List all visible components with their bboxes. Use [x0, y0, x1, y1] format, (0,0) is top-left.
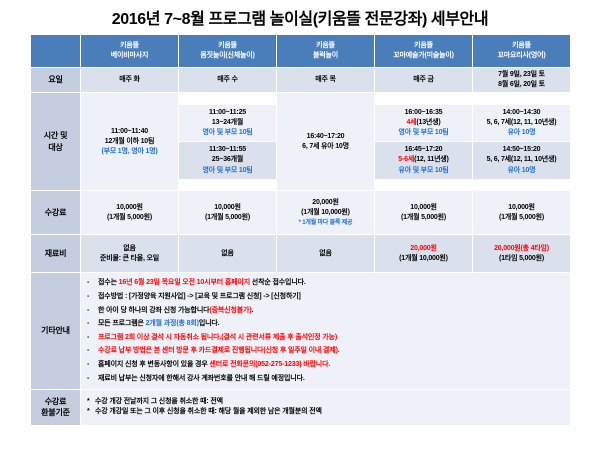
schedule-cell-4-part-2-time: 16:45~17:20 [376, 145, 471, 155]
header-program-2-line2: 몸짓놀이(신체놀이) [180, 51, 275, 61]
weekday-value-3-line1: 매주 목 [278, 75, 373, 85]
tuition-cell-4-amount: 10,000원 [376, 203, 471, 213]
tuition-cell-2-amount: 10,000원 [180, 203, 275, 213]
schedule-cell-5-part-1-note: 유아 10명 [474, 128, 569, 138]
notes-item-bullet: - [87, 333, 89, 343]
row-schedule: 시간 및 대상 11:00~11:40 12개월 이하 10팀 (부모 1명, … [31, 93, 571, 191]
schedule-cell-5-part-2-time: 14:50~15:20 [474, 145, 569, 155]
row-label-schedule-line2: 대상 [32, 142, 79, 154]
material-cell-2: 없음 [179, 235, 277, 273]
weekday-value-5: 7월 9일, 23일 토 8월 6일, 20일 토 [473, 68, 571, 93]
schedule-cell-4-part-1-note: 영아 및 부모 10팀 [376, 128, 471, 138]
material-cell-1-sub: 준비물: 큰 타올, 오일 [82, 254, 177, 264]
notes-item: -한 아이 당 하나의 강좌 신청 가능합니다(중복신청불가). [87, 306, 566, 316]
notes-item-bullet: - [87, 360, 89, 370]
notes-item-bullet: - [87, 278, 89, 288]
material-cell-4: 20,000원 (1개월 10,000원) [375, 235, 473, 273]
header-program-1-line2: 베이비마사지 [82, 51, 177, 61]
tuition-cell-1: 10,000원 (1개월 5,000원) [81, 191, 179, 235]
tuition-cell-2: 10,000원 (1개월 5,000원) [179, 191, 277, 235]
row-label-refund-line1: 수강료 [32, 396, 79, 408]
header-program-5: 키움뜰 꼬마요리사(영어) [473, 35, 571, 68]
header-program-4-line2: 꼬마예술가(미술놀이) [376, 51, 471, 61]
schedule-cell-4-part-1-age-red: 4세 [406, 119, 416, 126]
row-refund-policy: 수강료 환불기준 *수강 개강 전날까지 그 신청을 취소한 때: 전액*수강 … [31, 389, 571, 425]
refund-item-bullet: * [87, 397, 90, 407]
refund-list: *수강 개강 전날까지 그 신청을 취소한 때: 전액*수강 개강일 또는 그 … [87, 397, 566, 417]
material-cell-1: 없음 준비물: 큰 타올, 오일 [81, 235, 179, 273]
material-cell-4-amount: 20,000원 [376, 244, 471, 254]
notes-item: -프로그램 2회 이상 결석 시 자동취소 됩니다.(결석 시 관련서류 제출 … [87, 333, 566, 343]
weekday-value-3: 매주 목 [277, 68, 375, 93]
schedule-cell-5-part-1: 14:00~14:30 5, 6, 7세(12, 11, 10년생) 유아 10… [473, 105, 570, 142]
notes-item-segment: 입니다. [199, 320, 220, 327]
schedule-cell-4-part-2-age-rest: (12, 11년생) [414, 156, 449, 163]
row-tuition: 수강료 10,000원 (1개월 5,000원) 10,000원 (1개월 5,… [31, 191, 571, 235]
tuition-cell-5-amount: 10,000원 [474, 203, 569, 213]
notes-item-segment: 선착순 접수입니다. [250, 279, 306, 286]
tuition-cell-2-monthly: (1개월 5,000원) [180, 213, 275, 223]
notes-item: -수강료 납부 방법은 본 센터 방문 후 카드결제로 진행됩니다(신청 후 일… [87, 346, 566, 356]
notes-item-segment: 16년 6월 23일 목요일 오전 10시부터 홈페이지 [119, 279, 250, 286]
notes-item-segment: 수강료 납부 방법은 본 센터 방문 후 카드결제로 진행됩니다(신청 후 일주… [98, 347, 340, 354]
schedule-cell-4-part-1-time: 16:00~16:35 [376, 108, 471, 118]
notes-item-segment: 프로그램 2회 이상 결석 시 자동취소 됩니다.(결석 시 관련서류 제출 후… [98, 334, 337, 341]
notes-item-segment: 모든 프로그램은 [98, 320, 146, 327]
refund-item-text: 수강 개강일 또는 그 이후 신청을 취소한 때: 해당 월을 제외한 남은 개… [95, 408, 322, 415]
schedule-cell-2-part-1-age: 13~24개월 [180, 118, 275, 128]
row-label-refund: 수강료 환불기준 [31, 389, 81, 425]
row-label-notes: 기타안내 [31, 273, 81, 390]
header-program-1-line1: 키움뜰 [82, 41, 177, 51]
notes-item-segment: (총 8회) [176, 320, 198, 327]
notes-item-segment: 한 아이 당 하나의 강좌 신청 가능합니다 [98, 307, 209, 314]
header-program-2: 키움뜰 몸짓놀이(신체놀이) [179, 35, 277, 68]
weekday-value-2-line1: 매주 수 [180, 75, 275, 85]
notes-item: -접수방법 : [가정양육 지원사업] -> [교육 및 프로그램 신청] ->… [87, 292, 566, 302]
header-program-3: 키움뜰 블럭놀이 [277, 35, 375, 68]
refund-content: *수강 개강 전날까지 그 신청을 취소한 때: 전액*수강 개강일 또는 그 … [81, 389, 571, 425]
row-material-fee: 재료비 없음 준비물: 큰 타올, 오일 없음 없음 20,000원 (1개월 … [31, 235, 571, 273]
schedule-cell-4: 16:00~16:35 4세(13년생) 영아 및 부모 10팀 16:45~1… [375, 93, 473, 191]
header-program-3-line1: 키움뜰 [278, 41, 373, 51]
header-program-5-line1: 키움뜰 [474, 41, 569, 51]
tuition-cell-1-amount: 10,000원 [82, 203, 177, 213]
notes-item-segment: 접수방법 : [가정양육 지원사업] -> [교육 및 프로그램 신청] -> … [98, 293, 301, 300]
header-program-5-line2: 꼬마요리사(영어) [474, 51, 569, 61]
schedule-cell-2-part-2: 11:30~11:55 25~36개월 영아 및 부모 10팀 [179, 142, 276, 178]
program-guide-page: 2016년 7~8월 프로그램 놀이실(키움뜰 전문강좌) 세부안내 키움뜰 베… [0, 0, 600, 453]
tuition-cell-5-monthly: (1개월 5,000원) [474, 213, 569, 223]
table-container: 키움뜰 베이비마사지 키움뜰 몸짓놀이(신체놀이) 키움뜰 블럭놀이 키움뜰 꼬… [0, 34, 600, 426]
schedule-cell-3: 16:40~17:20 6, 7세 유아 10명 [277, 93, 375, 191]
refund-item-bullet: * [87, 407, 90, 417]
weekday-value-1-line1: 매주 화 [82, 75, 177, 85]
notes-item-bullet: - [87, 319, 89, 329]
schedule-cell-2-part-2-time: 11:30~11:55 [180, 145, 275, 155]
weekday-value-2: 매주 수 [179, 68, 277, 93]
notes-content: -접수는 16년 6월 23일 목요일 오전 10시부터 홈페이지 선착순 접수… [81, 273, 571, 390]
notes-item: -모든 프로그램은 2개월 과정(총 8회)입니다. [87, 319, 566, 329]
header-program-4-line1: 키움뜰 [376, 41, 471, 51]
material-cell-5-amount: 20,000원(총 4타임) [474, 244, 569, 254]
notes-item-segment: (중복신청불가) [209, 307, 251, 314]
schedule-cell-5-part-2-age: 5, 6, 7세(12, 11, 10년생) [474, 155, 569, 165]
schedule-cell-4-part-2-note: 유아 및 부모 10팀 [376, 166, 471, 176]
header-program-2-line1: 키움뜰 [180, 41, 275, 51]
notes-list: -접수는 16년 6월 23일 목요일 오전 10시부터 홈페이지 선착순 접수… [87, 278, 566, 384]
notes-item: -재료비 납부는 신청자에 한해서 강사 계좌번호를 안내 해 드릴 예정입니다… [87, 374, 566, 384]
schedule-cell-1-age: 12개월 이하 10팀 [82, 137, 177, 147]
tuition-cell-4: 10,000원 (1개월 5,000원) [375, 191, 473, 235]
weekday-value-4: 매주 금 [375, 68, 473, 93]
row-label-refund-line2: 환불기준 [32, 407, 79, 419]
notes-item-segment: 센터로 전화문의(052-275-1233) 바랍니다. [209, 361, 330, 368]
tuition-cell-3-extra: * 1개월 마다 블록 제공 [278, 219, 373, 228]
weekday-value-5-line2: 8월 6일, 20일 토 [474, 80, 569, 90]
schedule-cell-5: 14:00~14:30 5, 6, 7세(12, 11, 10년생) 유아 10… [473, 93, 571, 191]
refund-item-text: 수강 개강 전날까지 그 신청을 취소한 때: 전액 [95, 398, 223, 405]
tuition-cell-1-monthly: (1개월 5,000원) [82, 213, 177, 223]
schedule-cell-2-part-2-age: 25~36개월 [180, 155, 275, 165]
program-detail-table: 키움뜰 베이비마사지 키움뜰 몸짓놀이(신체놀이) 키움뜰 블럭놀이 키움뜰 꼬… [30, 34, 571, 426]
row-label-weekday: 요일 [31, 68, 81, 93]
material-cell-5: 20,000원(총 4타임) (1타임 5,000원) [473, 235, 571, 273]
material-cell-5-sub: (1타임 5,000원) [474, 254, 569, 264]
material-cell-4-sub: (1개월 10,000원) [376, 254, 471, 264]
weekday-value-5-line1: 7월 9일, 23일 토 [474, 70, 569, 80]
material-cell-3: 없음 [277, 235, 375, 273]
notes-item-bullet: - [87, 306, 89, 316]
notes-item-bullet: - [87, 374, 89, 384]
tuition-cell-3: 20,000원 (1개월 10,000원) * 1개월 마다 블록 제공 [277, 191, 375, 235]
row-weekday: 요일 매주 화 매주 수 매주 목 매주 금 7월 9일, 23일 토 [31, 68, 571, 93]
notes-item-bullet: - [87, 346, 89, 356]
notes-item-segment: 재료비 납부는 신청자에 한해서 강사 계좌번호를 안내 해 드릴 예정입니다. [98, 375, 305, 382]
schedule-cell-3-time: 16:40~17:20 [278, 132, 373, 142]
schedule-cell-4-part-2-age: 5-6세(12, 11년생) [376, 155, 471, 165]
schedule-cell-1: 11:00~11:40 12개월 이하 10팀 (부모 1명, 영아 1명) [81, 93, 179, 191]
schedule-cell-4-part-1-age: 4세(13년생) [376, 118, 471, 128]
header-program-1: 키움뜰 베이비마사지 [81, 35, 179, 68]
schedule-cell-1-note: (부모 1명, 영아 1명) [82, 147, 177, 157]
material-cell-3-amount: 없음 [278, 249, 373, 259]
schedule-cell-1-time: 11:00~11:40 [82, 127, 177, 137]
tuition-cell-3-amount: 20,000원 [278, 198, 373, 208]
schedule-cell-5-part-1-age: 5, 6, 7세(12, 11, 10년생) [474, 118, 569, 128]
weekday-value-1: 매주 화 [81, 68, 179, 93]
row-label-schedule: 시간 및 대상 [31, 93, 81, 191]
schedule-cell-4-part-2: 16:45~17:20 5-6세(12, 11년생) 유아 및 부모 10팀 [375, 142, 472, 178]
tuition-cell-3-monthly: (1개월 10,000원) [278, 208, 373, 218]
schedule-cell-4-part-1-age-rest: (13년생) [416, 119, 440, 126]
tuition-cell-4-monthly: (1개월 5,000원) [376, 213, 471, 223]
page-title: 2016년 7~8월 프로그램 놀이실(키움뜰 전문강좌) 세부안내 [0, 0, 600, 34]
row-label-material-fee: 재료비 [31, 235, 81, 273]
schedule-cell-2-part-2-note: 영아 및 부모 10팀 [180, 166, 275, 176]
weekday-value-4-line1: 매주 금 [376, 75, 471, 85]
header-program-4: 키움뜰 꼬마예술가(미술놀이) [375, 35, 473, 68]
row-label-schedule-line1: 시간 및 [32, 130, 79, 142]
notes-item-segment: 2개월 과정 [146, 320, 177, 327]
schedule-cell-5-part-2-note: 유아 10명 [474, 166, 569, 176]
header-program-3-line2: 블럭놀이 [278, 51, 373, 61]
notes-item-bullet: - [87, 292, 89, 302]
tuition-cell-5: 10,000원 (1개월 5,000원) [473, 191, 571, 235]
schedule-cell-4-part-2-age-red: 5-6세 [398, 156, 414, 163]
schedule-cell-3-age: 6, 7세 유아 10명 [278, 142, 373, 152]
schedule-cell-2-part-1-note: 영아 및 부모 10팀 [180, 128, 275, 138]
notes-item: -접수는 16년 6월 23일 목요일 오전 10시부터 홈페이지 선착순 접수… [87, 278, 566, 288]
notes-item-segment: 홈페이지 신청 후 변동사항이 있을 경우 [98, 361, 209, 368]
notes-item-segment: 접수는 [98, 279, 119, 286]
row-notes: 기타안내 -접수는 16년 6월 23일 목요일 오전 10시부터 홈페이지 선… [31, 273, 571, 390]
notes-item-segment: . [252, 307, 254, 314]
refund-item: *수강 개강 전날까지 그 신청을 취소한 때: 전액 [87, 397, 566, 407]
row-label-tuition: 수강료 [31, 191, 81, 235]
material-cell-2-amount: 없음 [180, 249, 275, 259]
refund-item: *수강 개강일 또는 그 이후 신청을 취소한 때: 해당 월을 제외한 남은 … [87, 407, 566, 417]
schedule-cell-2-part-1: 11:00~11:25 13~24개월 영아 및 부모 10팀 [179, 105, 276, 142]
table-header-row: 키움뜰 베이비마사지 키움뜰 몸짓놀이(신체놀이) 키움뜰 블럭놀이 키움뜰 꼬… [31, 35, 571, 68]
schedule-cell-2-part-1-time: 11:00~11:25 [180, 108, 275, 118]
notes-item: -홈페이지 신청 후 변동사항이 있을 경우 센터로 전화문의(052-275-… [87, 360, 566, 370]
schedule-cell-5-part-1-time: 14:00~14:30 [474, 108, 569, 118]
header-corner-cell [31, 35, 81, 68]
schedule-cell-5-part-2: 14:50~15:20 5, 6, 7세(12, 11, 10년생) 유아 10… [473, 142, 570, 178]
schedule-cell-4-part-1: 16:00~16:35 4세(13년생) 영아 및 부모 10팀 [375, 105, 472, 142]
material-cell-1-amount: 없음 [82, 244, 177, 254]
schedule-cell-2: 11:00~11:25 13~24개월 영아 및 부모 10팀 11:30~11… [179, 93, 277, 191]
